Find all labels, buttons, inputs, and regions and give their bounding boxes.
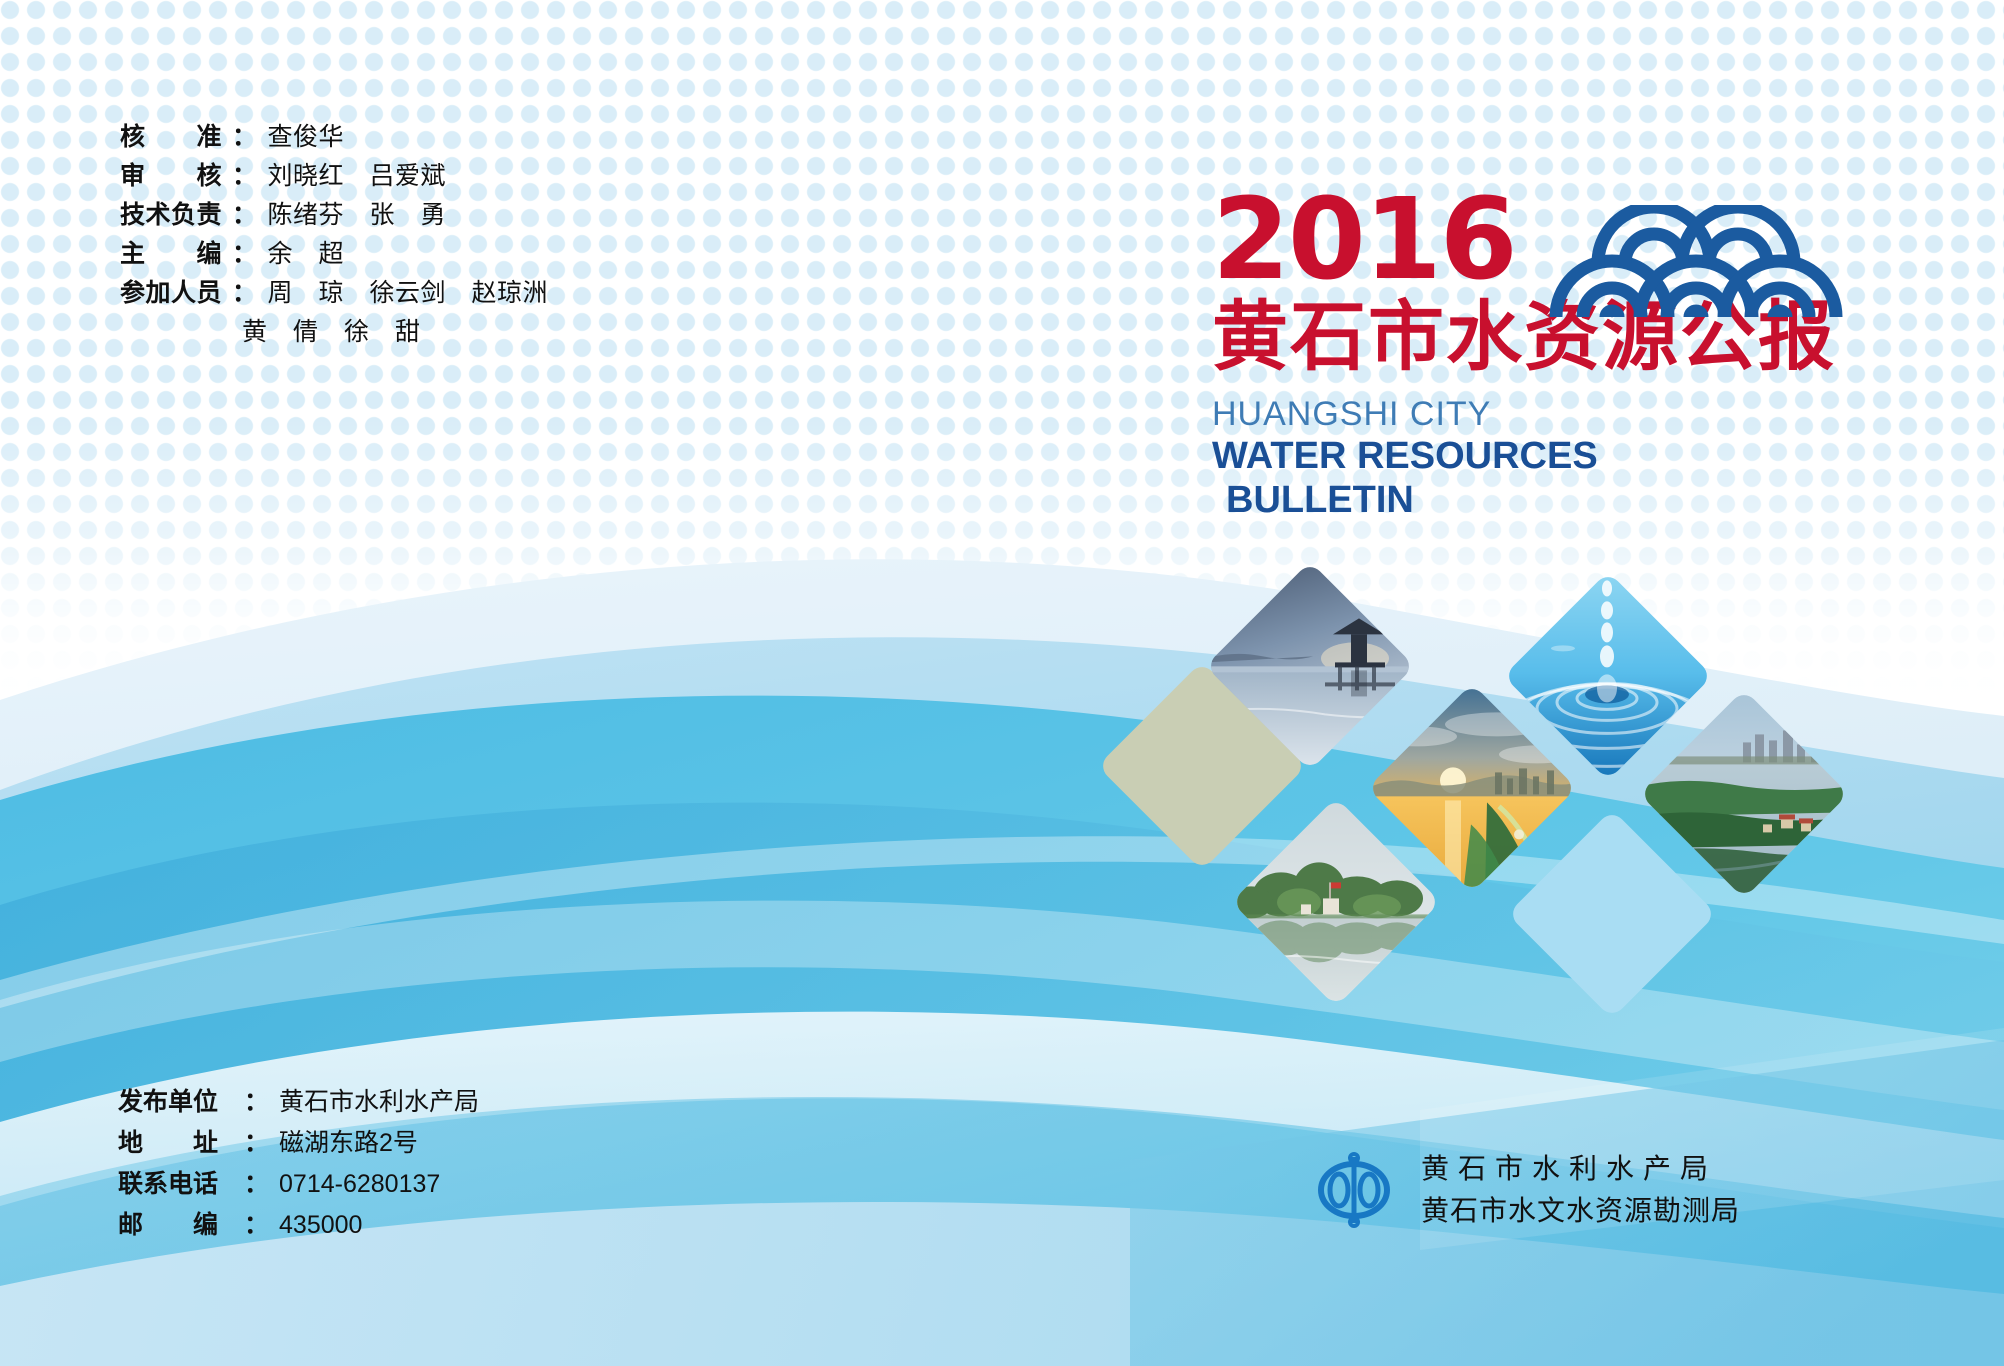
contact-row: 发布单位 ： 黄石市水利水产局	[118, 1082, 479, 1123]
credit-colon: ：	[232, 118, 258, 157]
wave-cloud-motif-icon	[1548, 205, 1848, 323]
credit-row: 核 准 ： 查俊华	[120, 118, 548, 157]
credit-row: 主 编 ： 余 超	[120, 235, 548, 274]
credit-label: 核 准	[120, 118, 232, 157]
contact-value: 磁湖东路2号	[279, 1123, 418, 1164]
organization-line2: 黄石市水文水资源勘测局	[1421, 1190, 1740, 1232]
credit-value: 陈绪芬 张 勇	[268, 196, 447, 235]
credit-colon: ：	[232, 274, 258, 313]
organization-block: 黄石市水利水产局 黄石市水文水资源勘测局	[1315, 1148, 1740, 1232]
credit-label: 技术负责	[120, 196, 232, 235]
credit-colon: ：	[232, 235, 258, 274]
bulletin-cover-page: 核 准 ： 查俊华 审 核 ： 刘晓红 吕爱斌 技术负责 ： 陈绪芬 张 勇 主…	[0, 0, 2004, 1366]
organization-text: 黄石市水利水产局 黄石市水文水资源勘测局	[1421, 1148, 1740, 1232]
contact-row: 联系电话 ： 0714-6280137	[118, 1164, 479, 1205]
credit-value: 余 超	[268, 235, 345, 274]
credit-label: 参加人员	[120, 274, 232, 313]
credit-label: 主 编	[120, 235, 232, 274]
contact-value: 435000	[279, 1205, 362, 1246]
photo-collage	[1150, 610, 1770, 940]
contact-row: 地 址 ： 磁湖东路2号	[118, 1123, 479, 1164]
contact-colon: ：	[244, 1082, 269, 1123]
credit-value: 周 琼 徐云剑 赵琼洲	[268, 274, 549, 313]
water-bureau-emblem-icon	[1315, 1149, 1393, 1231]
credits-block: 核 准 ： 查俊华 审 核 ： 刘晓红 吕爱斌 技术负责 ： 陈绪芬 张 勇 主…	[120, 118, 548, 352]
contact-colon: ：	[244, 1205, 269, 1246]
contact-colon: ：	[244, 1164, 269, 1205]
contact-label: 发布单位	[118, 1082, 244, 1123]
contact-row: 邮 编 ： 435000	[118, 1205, 479, 1246]
contact-block: 发布单位 ： 黄石市水利水产局 地 址 ： 磁湖东路2号 联系电话 ： 0714…	[118, 1082, 479, 1246]
credit-label: 审 核	[120, 157, 232, 196]
contact-value: 0714-6280137	[279, 1164, 440, 1205]
subtitle-line2: BULLETIN	[1212, 478, 1836, 522]
credit-row: 技术负责 ： 陈绪芬 张 勇	[120, 196, 548, 235]
contact-value: 黄石市水利水产局	[279, 1082, 479, 1123]
contact-label: 邮 编	[118, 1205, 244, 1246]
credit-value: 查俊华	[268, 118, 345, 157]
contact-label: 地 址	[118, 1123, 244, 1164]
credit-value: 黄 倩 徐 甜	[242, 313, 421, 352]
credit-row: 参加人员 ： 周 琼 徐云剑 赵琼洲	[120, 274, 548, 313]
credit-row-continuation: 黄 倩 徐 甜	[120, 313, 548, 352]
credit-colon: ：	[232, 196, 258, 235]
contact-label: 联系电话	[118, 1164, 244, 1205]
organization-line1: 黄石市水利水产局	[1421, 1148, 1740, 1190]
credit-value: 刘晓红 吕爱斌	[268, 157, 447, 196]
contact-colon: ：	[244, 1123, 269, 1164]
credit-row: 审 核 ： 刘晓红 吕爱斌	[120, 157, 548, 196]
subtitle-city: HUANGSHI CITY	[1212, 394, 1836, 434]
credit-colon: ：	[232, 157, 258, 196]
subtitle-line1: WATER RESOURCES	[1212, 434, 1836, 478]
